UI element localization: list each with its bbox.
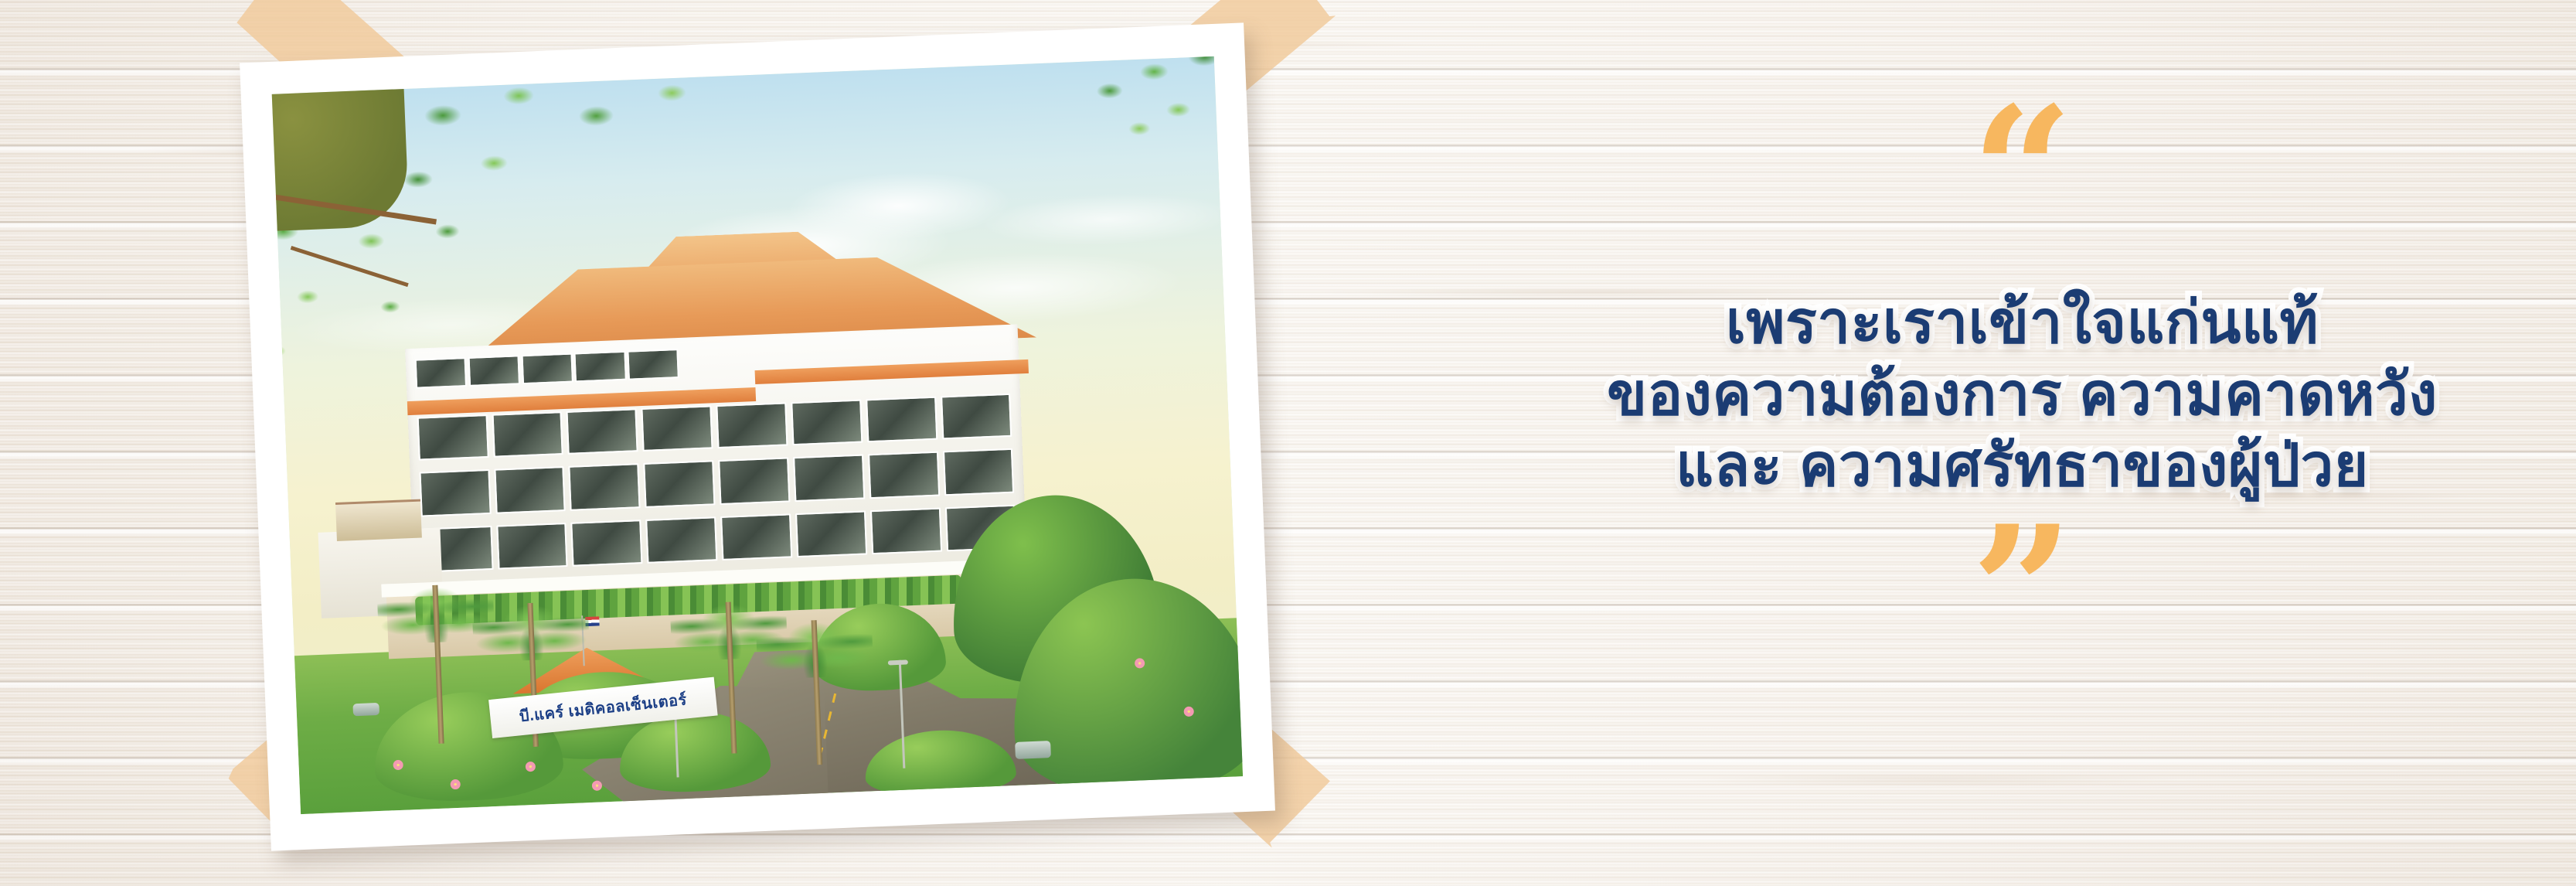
- quote-text-block: เพราะเราเข้าใจแก่นแท้ ของความต้องการ ควา…: [1468, 288, 2576, 503]
- flower-5: [1135, 658, 1145, 669]
- foreground-tree-canopy-right: [978, 56, 1243, 261]
- flower-1: [393, 759, 403, 770]
- flower-6: [1183, 706, 1194, 717]
- palm-tree-4: [755, 618, 876, 767]
- parked-car-2: [353, 703, 380, 716]
- quote-open-icon: “: [1971, 83, 2073, 261]
- rooftop-equipment: [335, 499, 422, 541]
- quote-close-icon: ”: [1971, 503, 2073, 680]
- banner-stage: บี.แคร์ เมดิคอลเซ็นเตอร์ “ เพราะเราเข้าใ…: [0, 0, 2576, 886]
- hospital-illustration: บี.แคร์ เมดิคอลเซ็นเตอร์: [272, 56, 1243, 814]
- photo-frame[interactable]: บี.แคร์ เมดิคอลเซ็นเตอร์: [240, 22, 1275, 850]
- quote-section: “ เพราะเราเข้าใจแก่นแท้ ของความต้องการ ค…: [1468, 0, 2576, 886]
- quote-line-2: ของความต้องการ ความคาดหวัง: [1468, 360, 2576, 431]
- quote-line-1: เพราะเราเข้าใจแก่นแท้: [1468, 288, 2576, 360]
- parked-car-1: [1015, 741, 1051, 759]
